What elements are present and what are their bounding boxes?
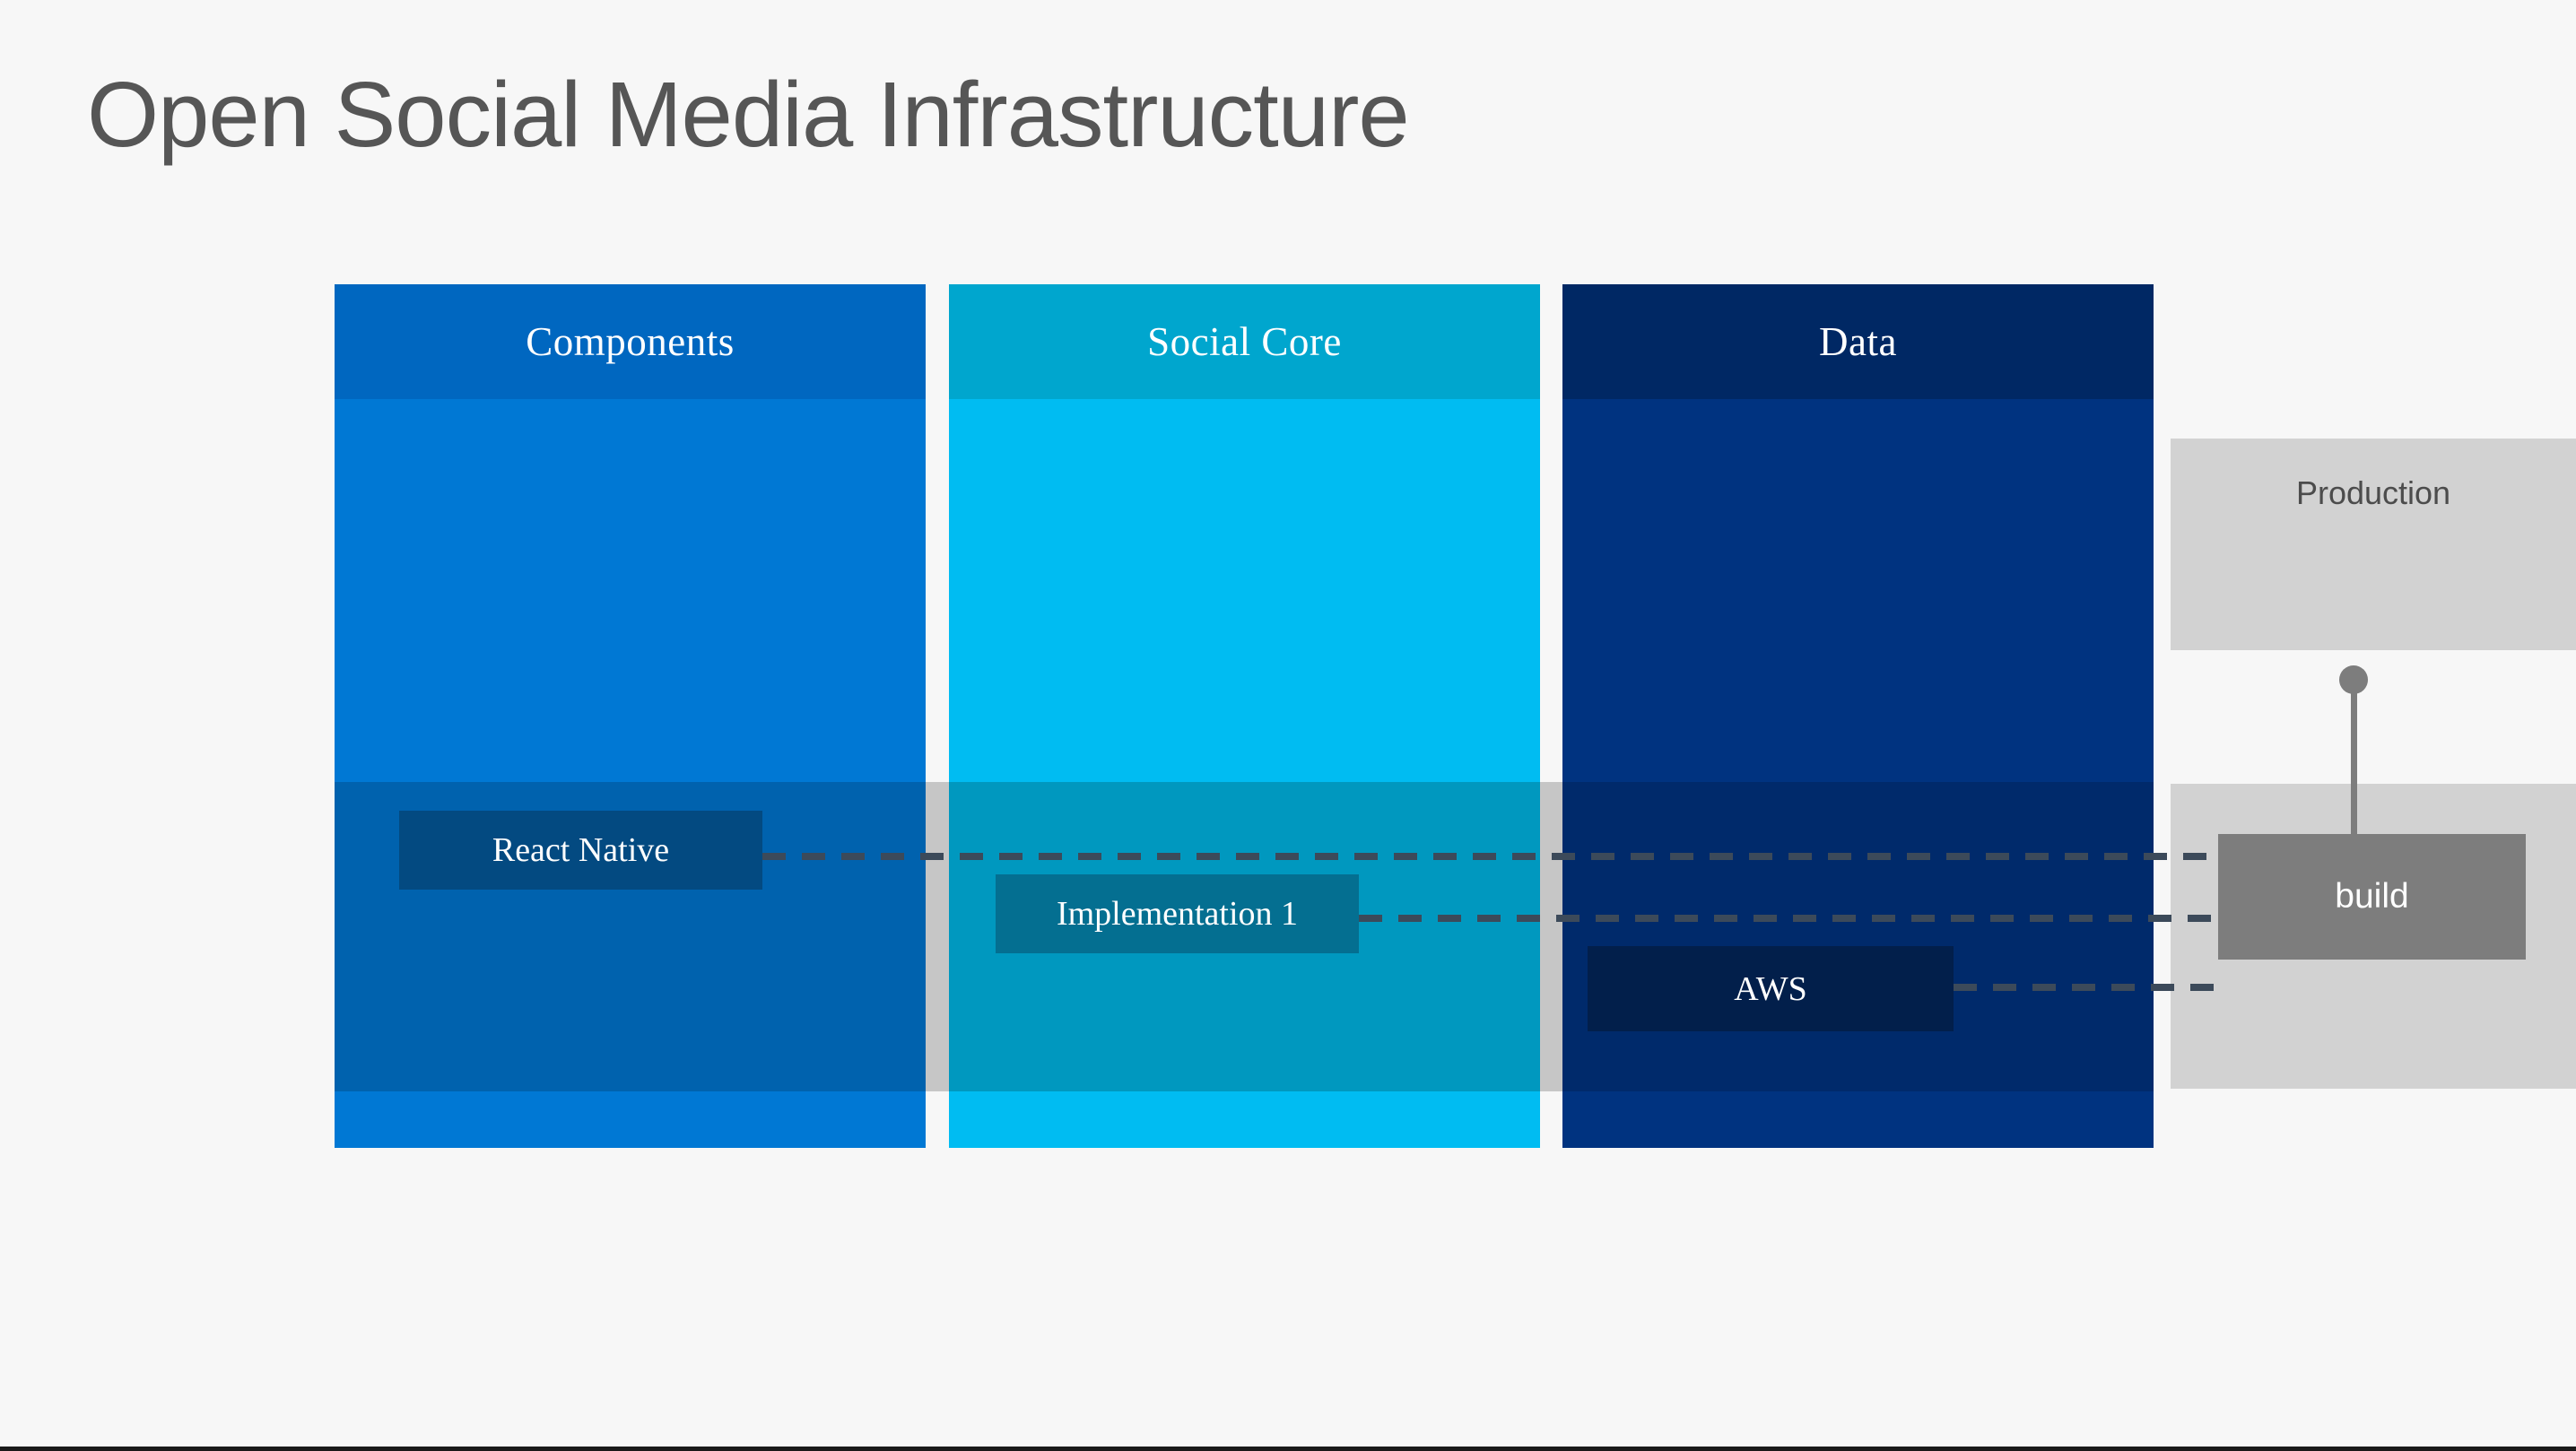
column-social-core[interactable]: Social Core (949, 284, 1540, 1148)
column-mid-band (1562, 782, 2154, 1091)
node-implementation-1[interactable]: Implementation 1 (996, 874, 1359, 953)
column-body-band (335, 399, 926, 782)
column-title-social-core: Social Core (949, 284, 1540, 399)
column-components[interactable]: Components (335, 284, 926, 1148)
column-foot-band (949, 1091, 1540, 1148)
env-label-production: Production (2171, 474, 2576, 512)
slide-bottom-rule (0, 1447, 2576, 1451)
column-foot-band (1562, 1091, 2154, 1148)
slide-canvas: Open Social Media Infrastructure Compone… (0, 0, 2576, 1451)
node-react-native[interactable]: React Native (399, 811, 762, 890)
column-foot-band (335, 1091, 926, 1148)
column-body-band (949, 399, 1540, 782)
column-gutter-1 (926, 782, 951, 1091)
page-title: Open Social Media Infrastructure (87, 65, 1409, 164)
column-gutter-2 (1539, 782, 1564, 1091)
env-panel-production[interactable]: Production (2171, 439, 2576, 650)
node-aws[interactable]: AWS (1588, 946, 1954, 1031)
node-build[interactable]: build (2218, 834, 2526, 960)
column-body-band (1562, 399, 2154, 782)
column-title-components: Components (335, 284, 926, 399)
connector-stem-icon (2351, 680, 2357, 838)
column-title-data: Data (1562, 284, 2154, 399)
